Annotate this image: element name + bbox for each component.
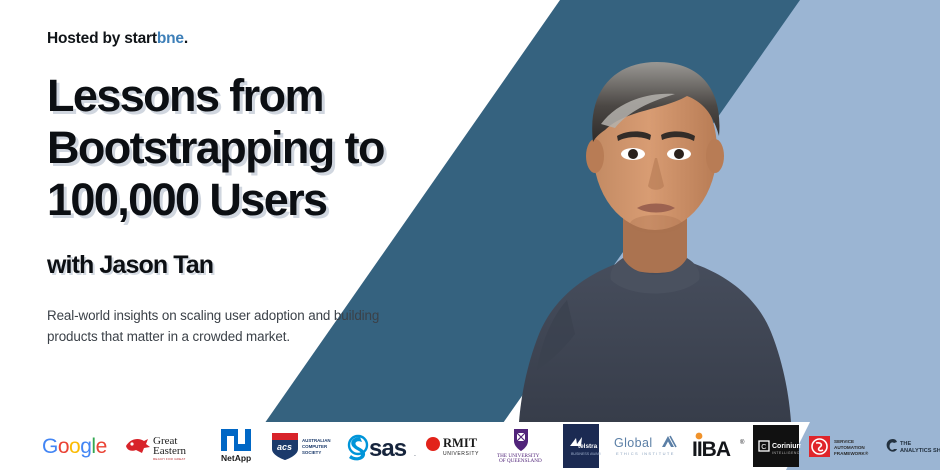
sponsor-logo-university-of-queensland: THE UNIVERSITY OF QUEENSLAND	[490, 429, 552, 463]
svg-text:FRAMEWORK®: FRAMEWORK®	[834, 450, 869, 456]
svg-text:SOCIETY: SOCIETY	[302, 450, 321, 455]
description-text: Real-world insights on scaling user adop…	[47, 305, 397, 347]
sponsor-logo-sas: sas .	[342, 429, 422, 463]
speaker-name: with Jason Tan	[47, 251, 467, 280]
svg-text:REACH FOR GREAT: REACH FOR GREAT	[153, 457, 186, 461]
svg-text:ETHICS INSTITUTE: ETHICS INSTITUTE	[616, 451, 675, 456]
svg-text:AUTOMATION: AUTOMATION	[834, 445, 865, 450]
sponsor-logo-corinium: C Corinium INTELLIGENCE	[748, 429, 806, 463]
svg-text:RMIT: RMIT	[443, 436, 478, 450]
title-line-1: Lessons from	[47, 70, 467, 122]
svg-text:acs: acs	[277, 442, 292, 452]
svg-text:AUSTRALIAN: AUSTRALIAN	[302, 438, 331, 443]
sponsor-logo-rmit: RMIT UNIVERSITY	[422, 429, 490, 463]
svg-text:®: ®	[740, 439, 745, 446]
event-promo-banner: Hosted by startbne. Lessons from Bootstr…	[0, 0, 940, 470]
title-line-3: 100,000 Users	[47, 174, 467, 226]
headline-block: Hosted by startbne. Lessons from Bootstr…	[47, 30, 467, 347]
portrait-figure	[519, 62, 791, 422]
chin-shadow	[630, 215, 682, 233]
sponsor-logo-acs: acs AUSTRALIAN COMPUTER SOCIETY	[266, 429, 342, 463]
sponsor-logo-service-automation-framework: SERVICE AUTOMATION FRAMEWORK®	[806, 429, 882, 463]
svg-text:NetApp: NetApp	[221, 453, 251, 463]
svg-text:THE: THE	[900, 441, 911, 447]
svg-text:SERVICE: SERVICE	[834, 439, 854, 444]
sponsor-logo-global-ai-ethics-institute: Global ETHICS INSTITUTE	[610, 429, 688, 463]
svg-text:Eastern: Eastern	[153, 445, 186, 457]
svg-text:Global: Global	[614, 436, 653, 450]
svg-text:telstra: telstra	[578, 443, 598, 450]
brand-bne: bne	[157, 30, 184, 47]
svg-text:INTELLIGENCE: INTELLIGENCE	[772, 451, 801, 455]
ear-left	[586, 139, 604, 173]
svg-text:ANALYTICS SHOW: ANALYTICS SHOW	[900, 448, 940, 454]
pupil-right	[674, 149, 684, 159]
sponsor-logo-netapp: NetApp	[204, 429, 266, 463]
ear-right	[706, 139, 724, 173]
hosted-by-prefix: Hosted by	[47, 30, 124, 47]
sponsor-logo-google: Google	[40, 429, 120, 463]
sponsor-logo-iiba: IIBA ®	[688, 429, 748, 463]
svg-text:sas: sas	[369, 435, 407, 461]
brand-start: start	[124, 30, 157, 47]
sponsor-logo-the-analytics-show: THE ANALYTICS SHOW	[882, 429, 940, 463]
sponsor-logo-row: Google Great Eastern REACH FOR GREAT	[0, 422, 940, 470]
sponsor-logo-great-eastern: Great Eastern REACH FOR GREAT	[120, 429, 204, 463]
svg-text:IIBA: IIBA	[692, 438, 731, 460]
svg-text:UNIVERSITY: UNIVERSITY	[443, 451, 479, 457]
sponsor-logo-telstra: telstra BUSINESS AWARDS	[552, 429, 610, 463]
page-title: Lessons from Bootstrapping to 100,000 Us…	[47, 70, 467, 227]
title-line-2: Bootstrapping to	[47, 122, 467, 174]
sponsor-logo-bar: Google Great Eastern REACH FOR GREAT	[0, 422, 940, 470]
svg-text:BUSINESS AWARDS: BUSINESS AWARDS	[571, 452, 601, 456]
svg-text:OF QUEENSLAND: OF QUEENSLAND	[499, 458, 542, 464]
speaker-portrait	[505, 18, 805, 422]
pupil-left	[628, 149, 638, 159]
brand-dot: .	[184, 30, 188, 47]
hosted-by-line: Hosted by startbne.	[47, 30, 467, 48]
svg-text:Corinium: Corinium	[772, 443, 801, 450]
svg-text:COMPUTER: COMPUTER	[302, 444, 328, 449]
svg-text:C: C	[761, 442, 766, 451]
svg-text:.: .	[414, 451, 416, 458]
svg-text:Google: Google	[42, 435, 107, 458]
